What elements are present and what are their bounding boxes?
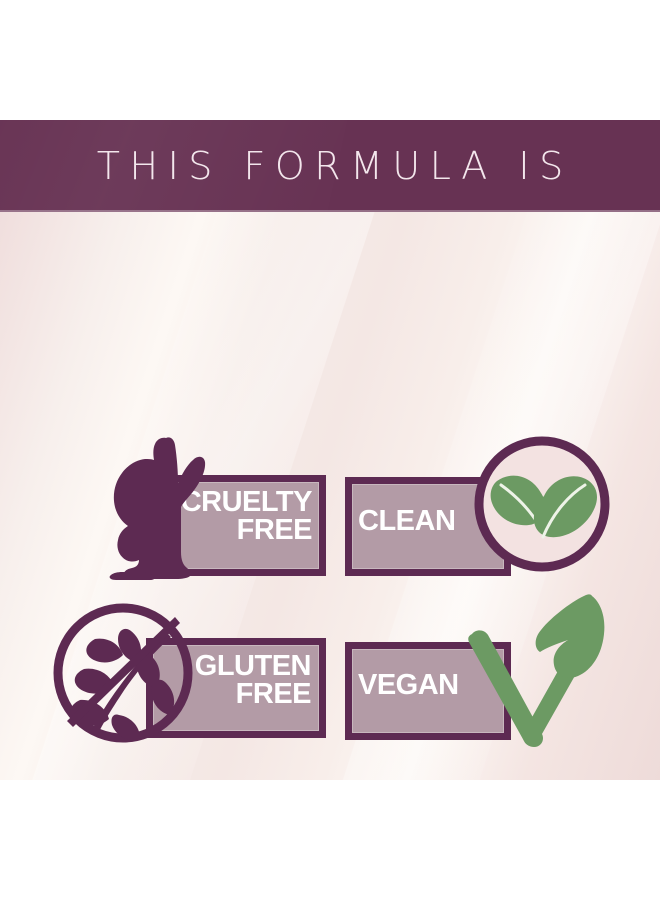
gluten-free-label-line-2: FREE bbox=[236, 678, 311, 710]
wheat-icon bbox=[49, 599, 197, 747]
vegan-label-line-1: VEGAN bbox=[358, 669, 459, 701]
vegan-v-icon bbox=[452, 586, 622, 756]
page-title: THIS FORMULA IS bbox=[0, 120, 660, 212]
formula-claims-graphic: THIS FORMULA IS CRUELTY FREE CLEAN bbox=[0, 120, 660, 780]
clean-label-line-1: CLEAN bbox=[358, 505, 455, 537]
gluten-free-label-line-1: GLUTEN bbox=[195, 650, 311, 682]
header-band: THIS FORMULA IS bbox=[0, 120, 660, 212]
clean-circle-icon bbox=[471, 433, 613, 575]
cruelty-free-label-line-2: FREE bbox=[237, 514, 312, 546]
rabbit-icon bbox=[104, 434, 222, 586]
